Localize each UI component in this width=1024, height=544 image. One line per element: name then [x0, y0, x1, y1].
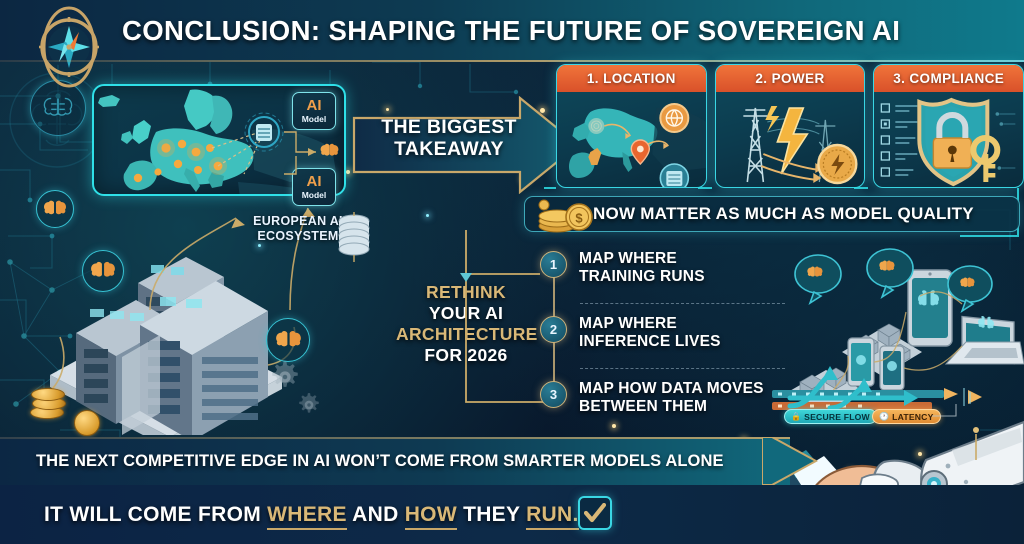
brain-icon: [36, 190, 74, 228]
banner-highlight-run: RUN.: [526, 503, 579, 530]
ai-brain-connector: [280, 126, 348, 180]
ai-model-subtitle: Model: [302, 191, 327, 200]
infographic-canvas: CONCLUSION: SHAPING THE FUTURE OF SOVERE…: [0, 0, 1024, 544]
check-box[interactable]: [578, 496, 612, 530]
brain-icon: [30, 80, 86, 136]
step-line2: BETWEEN THEM: [579, 398, 764, 416]
header-bar: CONCLUSION: SHAPING THE FUTURE OF SOVERE…: [0, 0, 1024, 62]
band-text: NOW MATTER AS MUCH AS MODEL QUALITY: [593, 204, 974, 224]
banner-secondary: IT WILL COME FROM WHERE AND HOW THEY RUN…: [0, 485, 1024, 544]
step-line1: MAP WHERE: [579, 315, 721, 333]
step-number: 1: [540, 251, 567, 278]
model-quality-band: $ NOW MATTER AS MUCH AS MODEL QUALITY: [524, 196, 1020, 232]
step-line2: INFERENCE LIVES: [579, 333, 721, 351]
gear-icon: [268, 360, 302, 394]
banner-arrow-icon: [762, 437, 818, 485]
step-text: MAP WHERE TRAINING RUNS: [579, 250, 705, 285]
takeaway-line2: TAKEAWAY: [374, 138, 524, 160]
banner-primary: THE NEXT COMPETITIVE EDGE IN AI WON’T CO…: [0, 437, 790, 485]
step-line2: TRAINING RUNS: [579, 268, 705, 286]
ai-model-subtitle: Model: [302, 115, 327, 124]
step-line1: MAP HOW DATA MOVES: [579, 380, 764, 398]
step-number: 3: [540, 381, 567, 408]
step-text: MAP WHERE INFERENCE LIVES: [579, 315, 721, 350]
brain-icon: [266, 318, 310, 362]
gear-icon: [296, 392, 322, 418]
banner-secondary-text: IT WILL COME FROM WHERE AND HOW THEY RUN…: [44, 503, 579, 527]
page-title: CONCLUSION: SHAPING THE FUTURE OF SOVERE…: [122, 15, 900, 47]
coin-stack-icon: $: [535, 199, 597, 233]
step-line1: MAP WHERE: [579, 250, 705, 268]
ai-model-title: AI: [307, 98, 322, 113]
check-icon: [584, 503, 606, 523]
step-text: MAP HOW DATA MOVES BETWEEN THEM: [579, 380, 764, 415]
svg-text:$: $: [575, 211, 583, 226]
banner-highlight-how: HOW: [405, 503, 457, 530]
step-number: 2: [540, 316, 567, 343]
brain-icon: [82, 250, 124, 292]
compass-icon: [30, 6, 108, 88]
brain-bubbles: [790, 248, 1024, 318]
banner-highlight-where: WHERE: [267, 503, 347, 530]
banner-part1: IT WILL COME FROM: [44, 503, 267, 526]
ai-model-card: AI Model: [292, 92, 336, 130]
banner-part3: THEY: [457, 503, 526, 526]
banner-part2: AND: [347, 503, 405, 526]
banner-primary-text: THE NEXT COMPETITIVE EDGE IN AI WON’T CO…: [36, 452, 724, 471]
database-stack-icon: [334, 212, 374, 264]
takeaway-text: THE BIGGEST TAKEAWAY: [374, 116, 524, 160]
takeaway-line1: THE BIGGEST: [374, 116, 524, 138]
